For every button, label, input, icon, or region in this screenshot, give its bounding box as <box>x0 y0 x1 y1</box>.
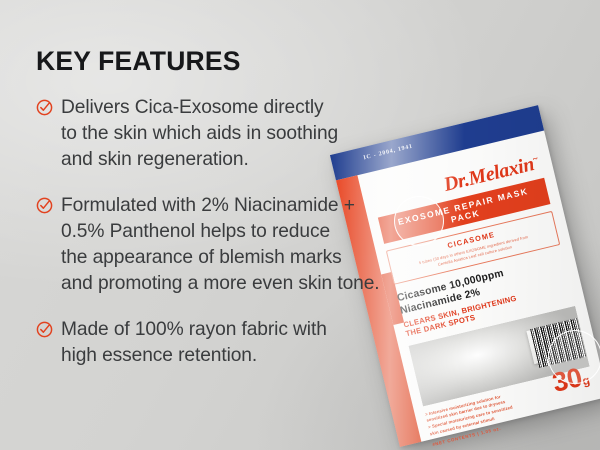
check-circle-icon <box>36 197 53 214</box>
feature-text: Formulated with 2% Niacinamide + 0.5% Pa… <box>61 193 380 297</box>
check-circle-icon <box>36 321 53 338</box>
feature-text: Delivers Cica-Exosome directly to the sk… <box>61 95 338 173</box>
check-circle-icon <box>36 99 53 116</box>
brand-mark: ~ <box>531 153 538 164</box>
feature-item: Made of 100% rayon fabric with high esse… <box>36 317 408 369</box>
page-title: KEY FEATURES <box>36 48 408 75</box>
key-features-panel: KEY FEATURES Delivers Cica-Exosome direc… <box>36 48 408 369</box>
product-feature-graphic: KEY FEATURES Delivers Cica-Exosome direc… <box>0 0 600 450</box>
feature-text: Made of 100% rayon fabric with high esse… <box>61 317 327 369</box>
feature-item: Delivers Cica-Exosome directly to the sk… <box>36 95 408 173</box>
feature-item: Formulated with 2% Niacinamide + 0.5% Pa… <box>36 193 408 297</box>
